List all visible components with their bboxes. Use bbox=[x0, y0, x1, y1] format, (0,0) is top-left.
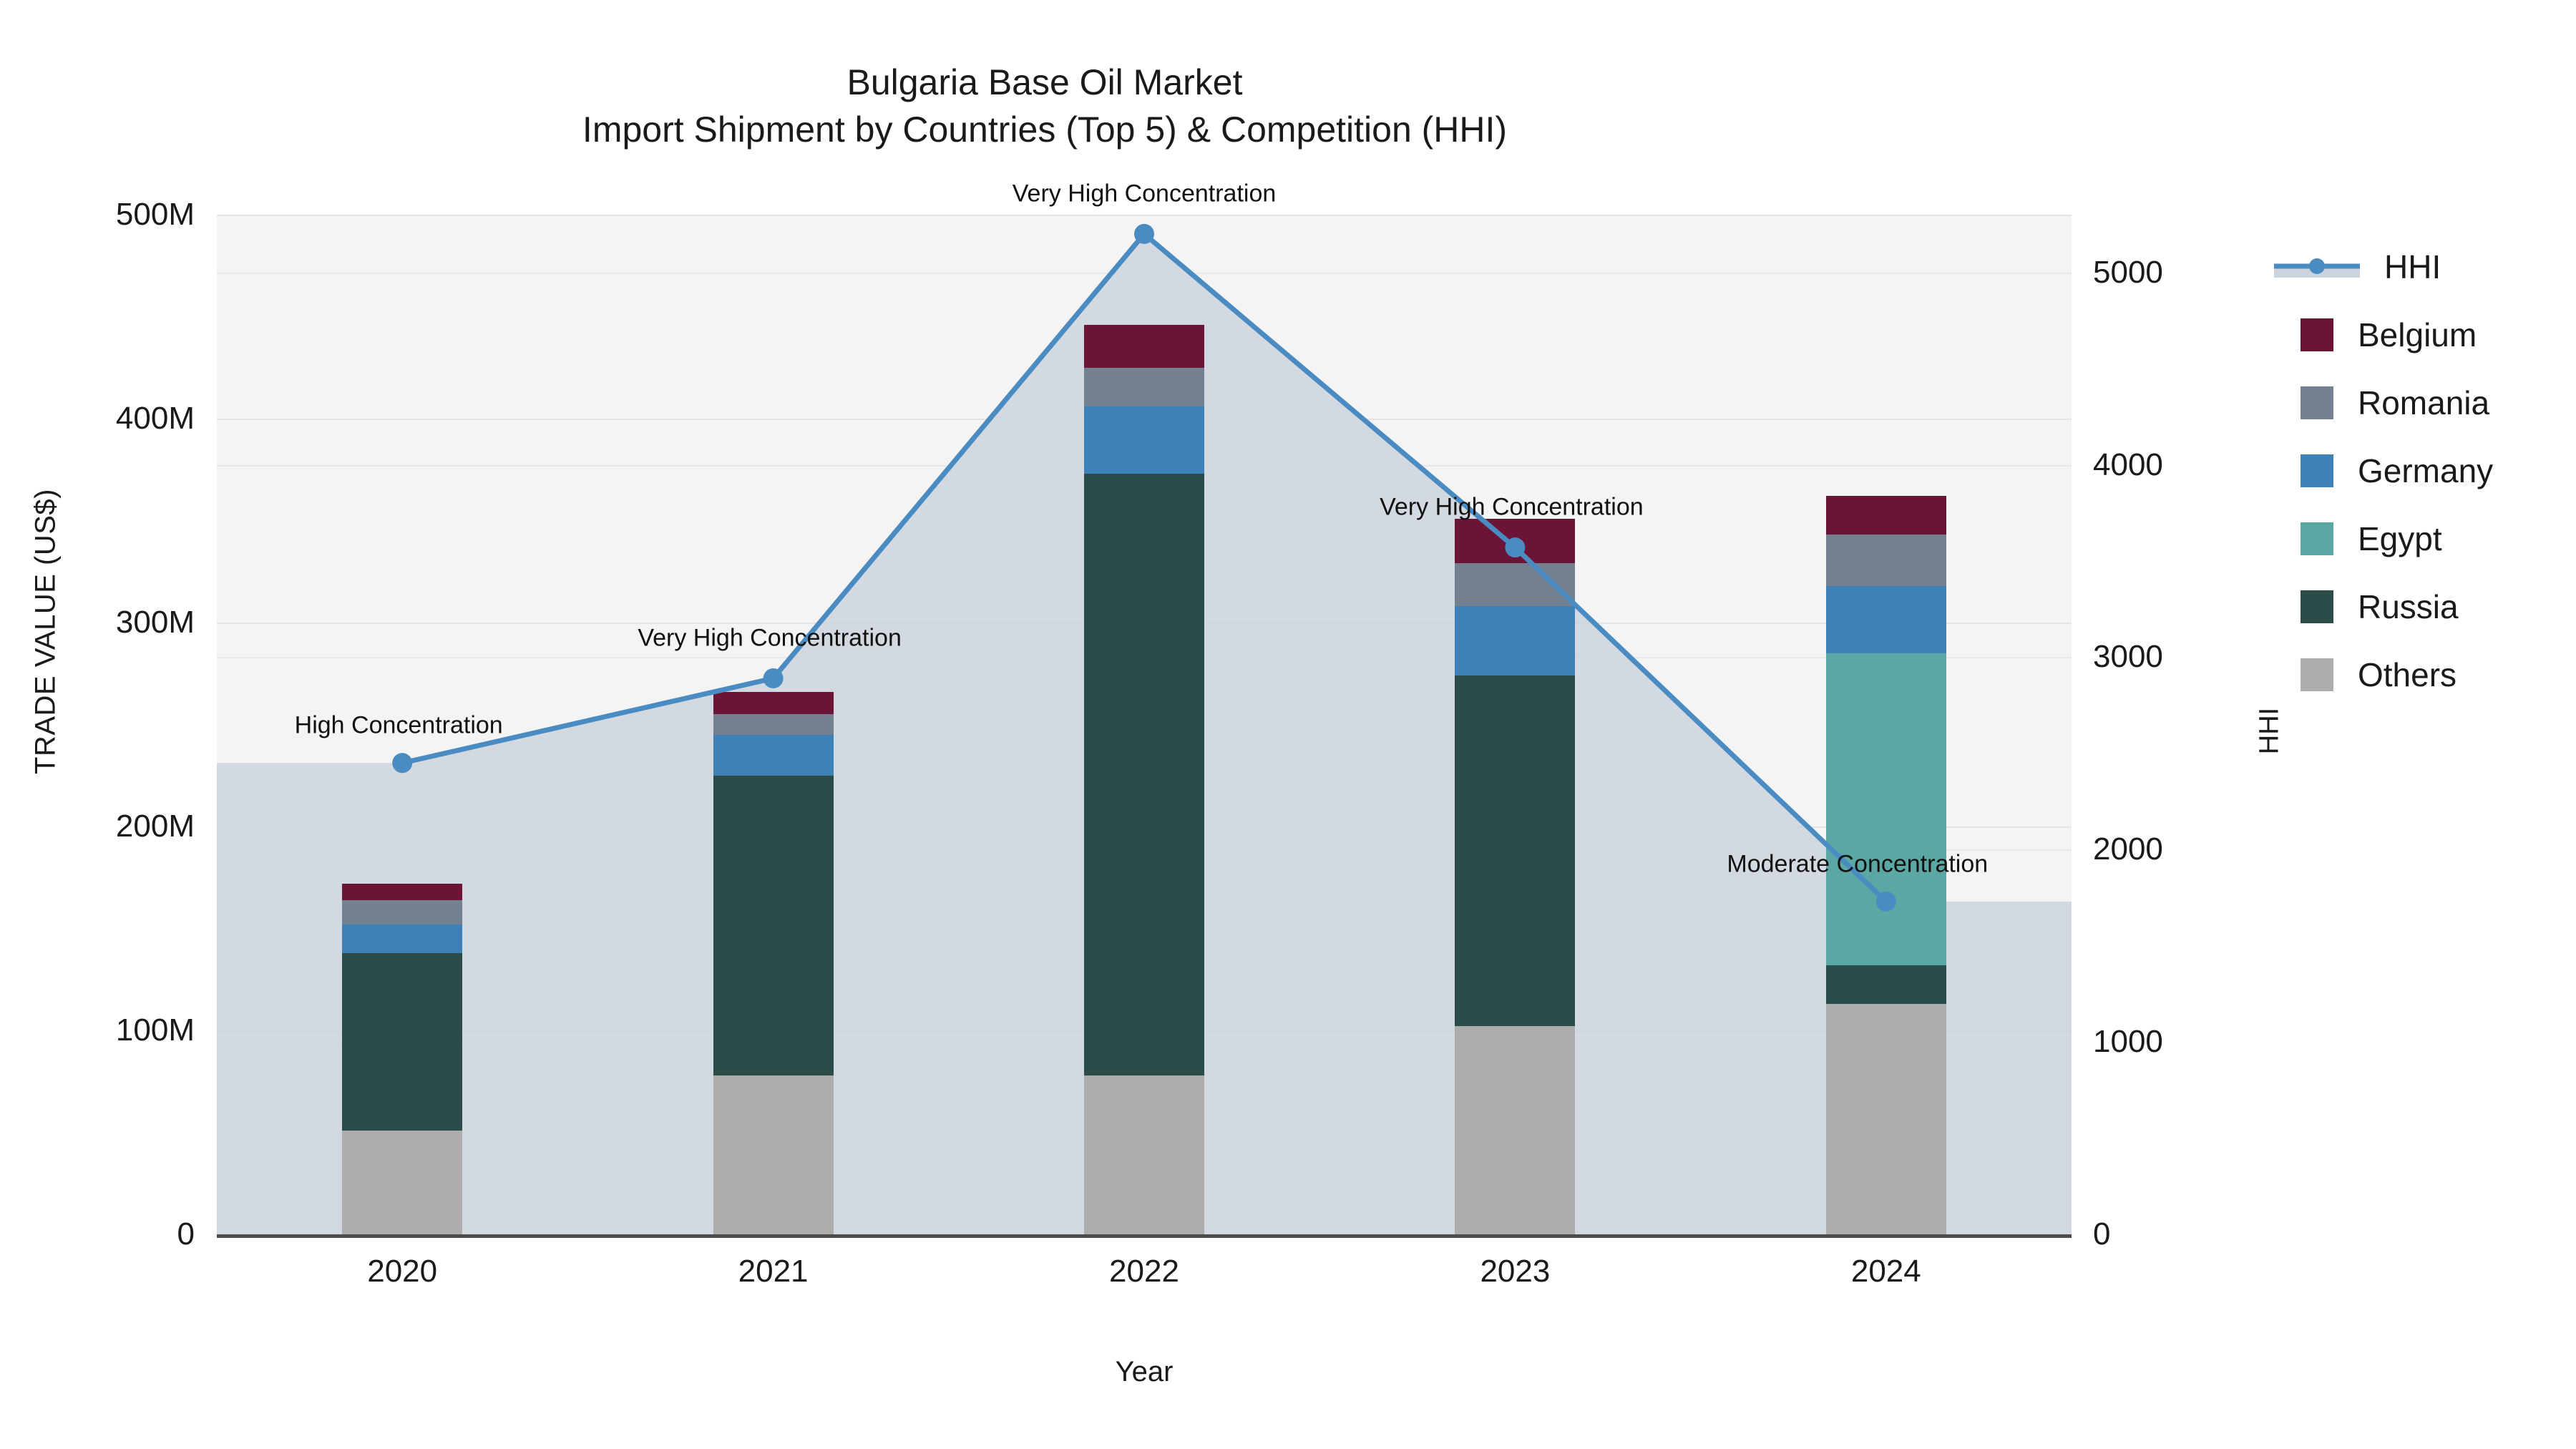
bar-segment-russia[interactable] bbox=[342, 953, 462, 1131]
y-tick-left: 500M bbox=[0, 197, 195, 233]
bar-segment-germany[interactable] bbox=[1084, 406, 1204, 474]
legend-swatch-belgium bbox=[2301, 318, 2333, 351]
legend-swatch-others bbox=[2301, 658, 2333, 691]
legend-item-romania[interactable]: Romania bbox=[2274, 369, 2493, 436]
bar-group-2022[interactable] bbox=[1084, 215, 1204, 1234]
bar-group-2024[interactable] bbox=[1826, 215, 1946, 1234]
legend-label-egypt: Egypt bbox=[2358, 519, 2442, 558]
bar-segment-romania[interactable] bbox=[713, 714, 834, 735]
legend-item-others[interactable]: Others bbox=[2274, 640, 2493, 708]
legend-label-russia: Russia bbox=[2358, 587, 2459, 626]
legend-line-swatch-icon bbox=[2274, 250, 2360, 283]
y-tick-left: 300M bbox=[0, 605, 195, 640]
bar-segment-germany[interactable] bbox=[342, 924, 462, 953]
y-tick-right: 4000 bbox=[2093, 447, 2163, 483]
legend-item-russia[interactable]: Russia bbox=[2274, 572, 2493, 640]
bar-segment-russia[interactable] bbox=[1826, 965, 1946, 1004]
y-tick-right: 3000 bbox=[2093, 639, 2163, 675]
y-tick-left: 0 bbox=[0, 1216, 195, 1252]
legend-item-germany[interactable]: Germany bbox=[2274, 436, 2493, 504]
legend-swatch-russia bbox=[2301, 590, 2333, 623]
legend-item-belgium[interactable]: Belgium bbox=[2274, 301, 2493, 369]
chart-root: Bulgaria Base Oil Market Import Shipment… bbox=[0, 0, 2576, 1449]
bar-segment-egypt[interactable] bbox=[1826, 653, 1946, 965]
y-tick-right: 2000 bbox=[2093, 831, 2163, 867]
x-axis-line bbox=[217, 1234, 2072, 1238]
legend-swatch-germany bbox=[2301, 454, 2333, 487]
annotation-2021: Very High Concentration bbox=[638, 624, 902, 652]
legend-label-hhi: HHI bbox=[2384, 248, 2441, 286]
bar-segment-germany[interactable] bbox=[713, 735, 834, 776]
legend-label-belgium: Belgium bbox=[2358, 316, 2477, 354]
legend-item-egypt[interactable]: Egypt bbox=[2274, 504, 2493, 572]
bar-segment-others[interactable] bbox=[713, 1075, 834, 1234]
chart-title: Bulgaria Base Oil Market bbox=[0, 59, 2089, 106]
bar-segment-russia[interactable] bbox=[713, 776, 834, 1075]
x-tick-2022: 2022 bbox=[1109, 1254, 1179, 1289]
bar-segment-russia[interactable] bbox=[1455, 675, 1575, 1026]
bar-segment-belgium[interactable] bbox=[1455, 519, 1575, 564]
y-tick-right: 0 bbox=[2093, 1216, 2110, 1252]
bar-segment-others[interactable] bbox=[1084, 1075, 1204, 1234]
bar-segment-germany[interactable] bbox=[1455, 606, 1575, 675]
bar-segment-others[interactable] bbox=[342, 1131, 462, 1234]
legend-label-others: Others bbox=[2358, 655, 2457, 694]
annotation-2024: Moderate Concentration bbox=[1727, 850, 1988, 878]
y-tick-left: 100M bbox=[0, 1013, 195, 1048]
legend-swatch-egypt bbox=[2301, 522, 2333, 555]
x-tick-2020: 2020 bbox=[367, 1254, 437, 1289]
x-axis-label: Year bbox=[217, 1356, 2072, 1388]
bar-segment-romania[interactable] bbox=[1084, 368, 1204, 406]
y-tick-left: 200M bbox=[0, 809, 195, 844]
bar-segment-others[interactable] bbox=[1455, 1026, 1575, 1234]
bar-segment-belgium[interactable] bbox=[342, 884, 462, 900]
chart-legend: HHIBelgiumRomaniaGermanyEgyptRussiaOther… bbox=[2274, 233, 2493, 708]
bar-segment-germany[interactable] bbox=[1826, 586, 1946, 653]
bar-segment-belgium[interactable] bbox=[1084, 325, 1204, 368]
x-tick-2023: 2023 bbox=[1480, 1254, 1550, 1289]
y-tick-right: 1000 bbox=[2093, 1024, 2163, 1060]
bar-segment-belgium[interactable] bbox=[1826, 496, 1946, 535]
annotation-2022: Very High Concentration bbox=[1013, 180, 1277, 208]
bar-segment-romania[interactable] bbox=[1826, 535, 1946, 585]
legend-label-romania: Romania bbox=[2358, 384, 2489, 422]
annotation-2023: Very High Concentration bbox=[1380, 494, 1644, 522]
bar-segment-others[interactable] bbox=[1826, 1004, 1946, 1234]
chart-title-block: Bulgaria Base Oil Market Import Shipment… bbox=[0, 59, 2089, 153]
y-tick-right: 5000 bbox=[2093, 255, 2163, 291]
bar-segment-belgium[interactable] bbox=[713, 692, 834, 714]
bar-group-2023[interactable] bbox=[1455, 215, 1575, 1234]
bar-segment-romania[interactable] bbox=[1455, 563, 1575, 606]
legend-item-hhi[interactable]: HHI bbox=[2274, 233, 2493, 301]
bar-segment-russia[interactable] bbox=[1084, 474, 1204, 1075]
y-tick-left: 400M bbox=[0, 401, 195, 436]
legend-label-germany: Germany bbox=[2358, 452, 2493, 490]
x-tick-2021: 2021 bbox=[738, 1254, 809, 1289]
x-tick-2024: 2024 bbox=[1851, 1254, 1921, 1289]
chart-subtitle: Import Shipment by Countries (Top 5) & C… bbox=[0, 106, 2089, 153]
legend-swatch-romania bbox=[2301, 386, 2333, 419]
annotation-2020: High Concentration bbox=[295, 712, 503, 740]
bar-group-2021[interactable] bbox=[713, 215, 834, 1234]
bar-segment-romania[interactable] bbox=[342, 900, 462, 924]
